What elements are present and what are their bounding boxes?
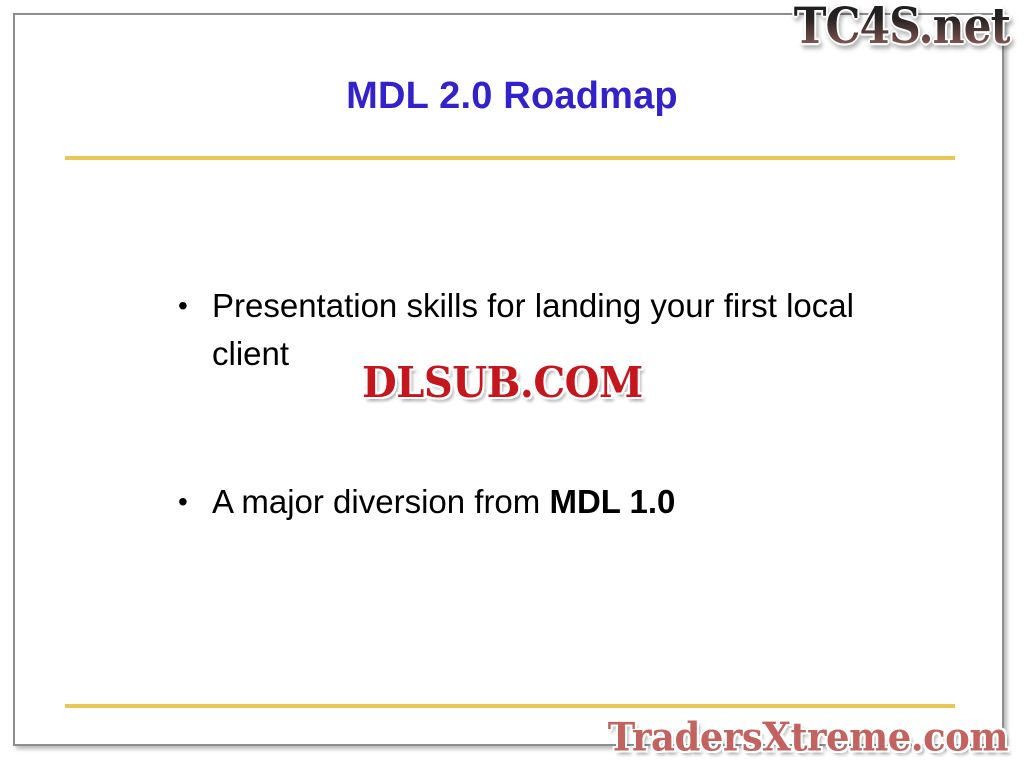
bullet-text-2-lead: A major diversion from (212, 483, 549, 520)
bullet-item-2: • A major diversion from MDL 1.0 (170, 478, 930, 526)
bullet-list: • Presentation skills for landing your f… (170, 282, 930, 526)
slide-title: MDL 2.0 Roadmap (0, 73, 1024, 119)
bullet-marker-icon: • (170, 282, 212, 330)
slide-canvas: MDL 2.0 Roadmap • Presentation skills fo… (0, 0, 1024, 768)
bullet-item-1: • Presentation skills for landing your f… (170, 282, 930, 378)
bullet-text-2: A major diversion from MDL 1.0 (212, 478, 872, 526)
divider-rule-top (65, 156, 955, 160)
bullet-text-1: Presentation skills for landing your fir… (212, 282, 872, 378)
divider-rule-bottom (65, 704, 955, 708)
bullet-text-2-emphasis: MDL 1.0 (549, 483, 675, 520)
bullet-marker-icon: • (170, 478, 212, 526)
